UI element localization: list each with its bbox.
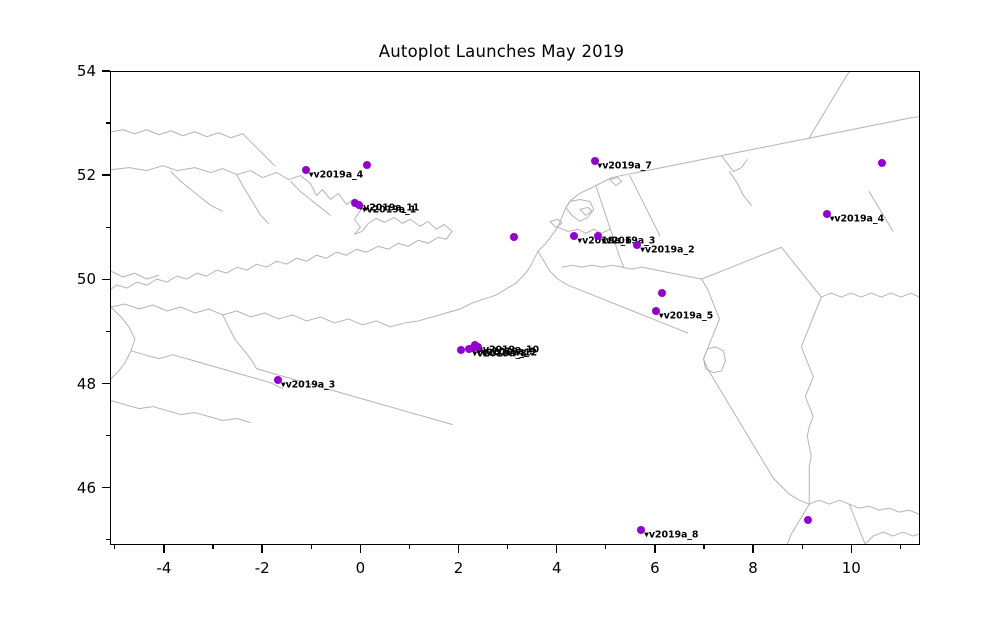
- data-point-label: ▾v2019a_8: [472, 349, 526, 360]
- x-axis-major-tick: [163, 545, 164, 553]
- data-point-label: ▾v2019a_2: [640, 245, 694, 256]
- data-point[interactable]: [878, 159, 886, 167]
- y-axis-tick-label: 50: [62, 270, 96, 288]
- y-axis-minor-tick: [106, 122, 110, 123]
- x-axis-minor-tick: [311, 545, 312, 549]
- x-axis-minor-tick: [900, 545, 901, 549]
- data-point-label: ▾v2019a_4: [309, 169, 363, 180]
- y-axis-major-tick: [102, 487, 110, 488]
- figure-canvas: Autoplot Launches May 2019: [0, 0, 1003, 633]
- x-axis-minor-tick: [212, 545, 213, 549]
- x-axis-tick-label: 0: [356, 559, 366, 577]
- x-axis-tick-label: 10: [842, 559, 861, 577]
- x-axis-tick-label: -2: [255, 559, 270, 577]
- y-axis-tick-label: 52: [62, 166, 96, 184]
- x-axis-minor-tick: [507, 545, 508, 549]
- x-axis-minor-tick: [409, 545, 410, 549]
- x-axis-tick-label: 6: [650, 559, 660, 577]
- data-point[interactable]: [658, 289, 666, 297]
- x-axis-major-tick: [654, 545, 655, 553]
- x-axis-tick-label: 4: [552, 559, 562, 577]
- data-point[interactable]: [363, 161, 371, 169]
- x-axis-minor-tick: [703, 545, 704, 549]
- data-points-layer: ▾v2019a_4▾v2019a_11▾v2019a_1▾v2019a_7▾v2…: [111, 72, 919, 544]
- y-axis-major-tick: [102, 70, 110, 71]
- y-axis-minor-tick: [106, 227, 110, 228]
- x-axis-tick-label: 2: [454, 559, 464, 577]
- x-axis-major-tick: [556, 545, 557, 553]
- y-axis-tick-label: 46: [62, 479, 96, 497]
- y-axis-major-tick: [102, 279, 110, 280]
- x-axis-tick-label: 8: [748, 559, 758, 577]
- data-point[interactable]: [457, 346, 465, 354]
- data-point-label: ▾v2019a_8: [644, 530, 698, 541]
- x-axis-major-tick: [458, 545, 459, 553]
- x-axis-major-tick: [261, 545, 262, 553]
- data-point-label: ▾v2019a_4: [830, 213, 884, 224]
- y-axis-minor-tick: [106, 435, 110, 436]
- data-point-label: ▾v2019a_1: [362, 204, 416, 215]
- plot-area[interactable]: ▾v2019a_4▾v2019a_11▾v2019a_1▾v2019a_7▾v2…: [110, 71, 920, 545]
- data-point-label: ▾v2019a_7: [598, 160, 652, 171]
- y-axis-tick-label: 48: [62, 375, 96, 393]
- y-axis-minor-tick: [106, 331, 110, 332]
- data-point-label: ▾v2019a_3: [281, 380, 335, 391]
- data-point[interactable]: [804, 516, 812, 524]
- chart-title: Autoplot Launches May 2019: [0, 42, 1003, 61]
- y-axis-major-tick: [102, 174, 110, 175]
- x-axis-major-tick: [752, 545, 753, 553]
- x-axis-major-tick: [851, 545, 852, 553]
- y-axis-tick-label: 54: [62, 62, 96, 80]
- x-axis-tick-label: -4: [157, 559, 172, 577]
- x-axis-minor-tick: [114, 545, 115, 549]
- x-axis-minor-tick: [802, 545, 803, 549]
- data-point[interactable]: [510, 233, 518, 241]
- y-axis-major-tick: [102, 383, 110, 384]
- y-axis-minor-tick: [106, 539, 110, 540]
- data-point-label: ▾v2019a_5: [659, 310, 713, 321]
- x-axis-minor-tick: [605, 545, 606, 549]
- x-axis-major-tick: [360, 545, 361, 553]
